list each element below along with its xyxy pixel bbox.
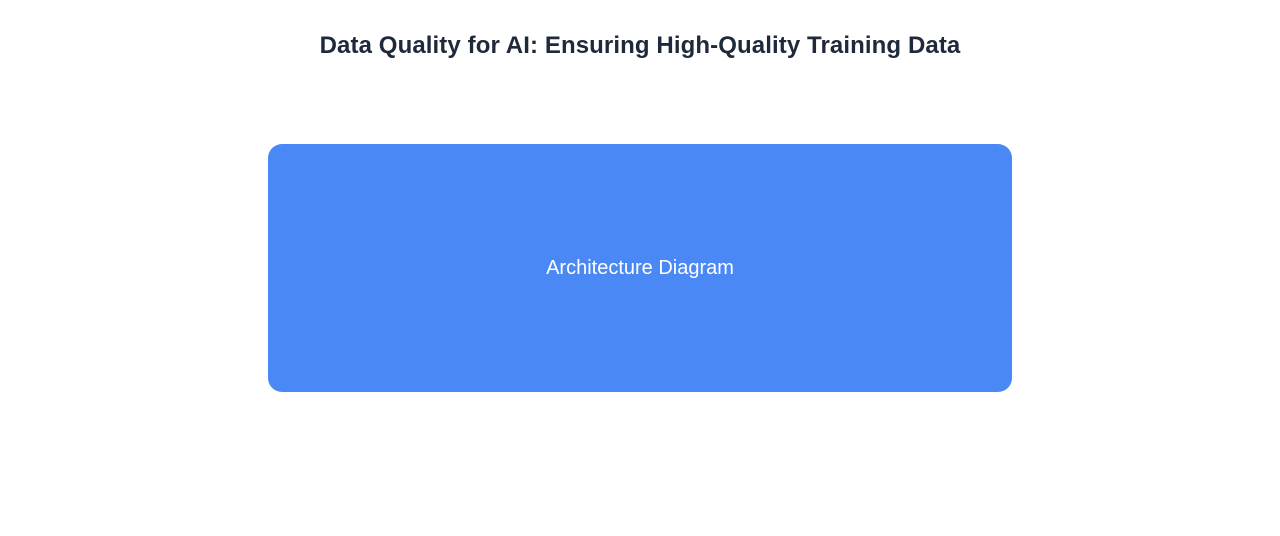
architecture-diagram-placeholder[interactable]: Architecture Diagram — [268, 144, 1012, 392]
page-title: Data Quality for AI: Ensuring High-Quali… — [0, 30, 1280, 62]
architecture-diagram-placeholder-label: Architecture Diagram — [546, 256, 734, 280]
slide-canvas: Data Quality for AI: Ensuring High-Quali… — [0, 0, 1280, 536]
